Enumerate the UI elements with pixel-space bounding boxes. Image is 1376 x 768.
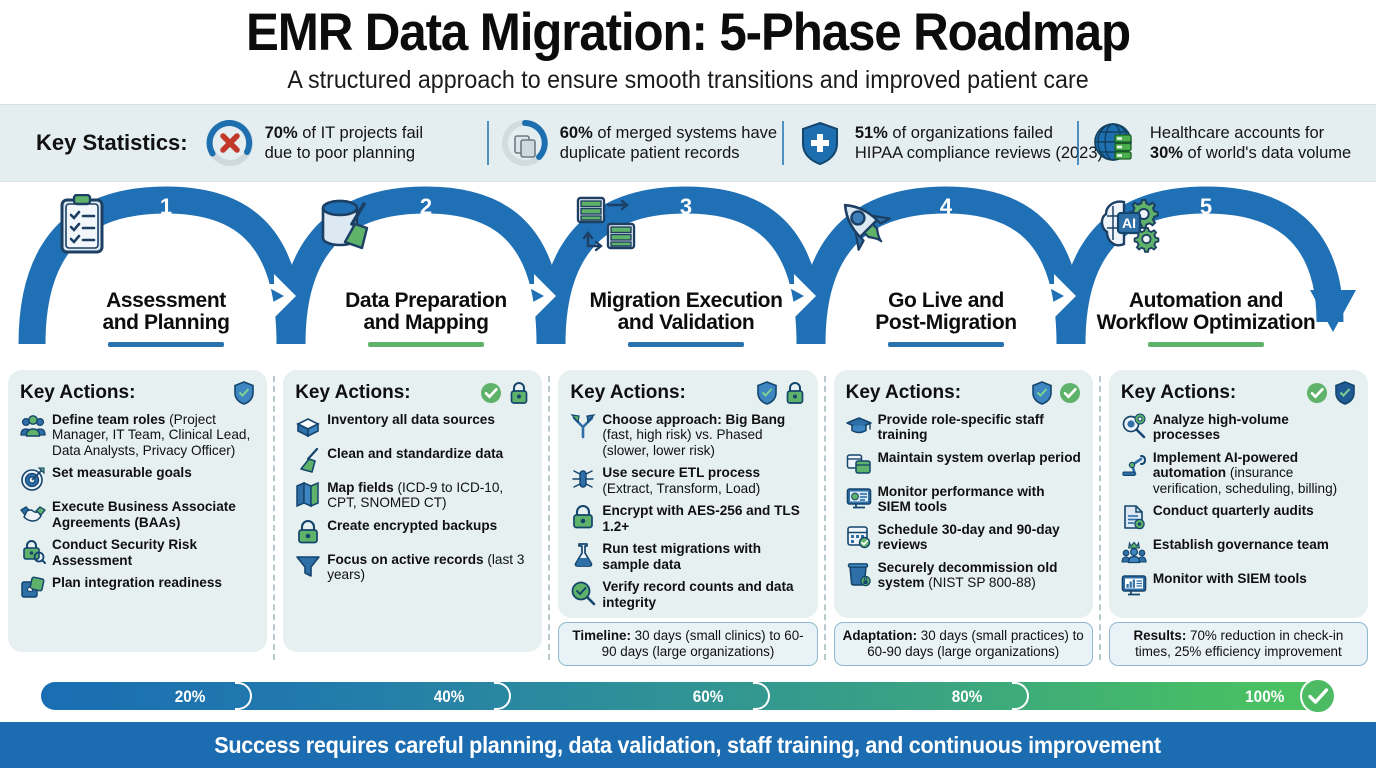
key-actions-label: Key Actions: <box>20 382 135 404</box>
action-bold: Monitor performance with SIEM tools <box>878 484 1045 514</box>
action-item: Conduct quarterly audits <box>1121 503 1356 530</box>
stat-text: 60% of merged systems have duplicate pat… <box>560 123 777 163</box>
phase-2: 2 Data Preparation and Mapping <box>314 194 538 347</box>
action-text: Provide role-specific staff training <box>878 412 1081 443</box>
stat-text: Healthcare accounts for 30% of world's d… <box>1150 123 1351 163</box>
action-text: Schedule 30-day and 90-day reviews <box>878 522 1081 553</box>
ai-brain-gears-icon: AI <box>1094 222 1318 288</box>
key-actions-label: Key Actions: <box>846 382 961 404</box>
action-text: Set measurable goals <box>52 465 192 480</box>
action-rest: (fast, high risk) vs. Phased (slower, lo… <box>602 427 762 457</box>
action-item: Verify record counts and data integrity <box>570 579 805 610</box>
action-bold: Map fields <box>327 480 393 495</box>
stat-line2: duplicate patient records <box>560 144 740 162</box>
green-check-icon <box>480 381 502 405</box>
action-bold: Use secure ETL process <box>602 465 760 480</box>
stat-item-it-projects-fail: 70% of IT projects fail due to poor plan… <box>204 117 477 169</box>
stat-line2: of world's data volume <box>1183 144 1351 162</box>
monitor-chart-icon <box>846 485 872 511</box>
stat-text: 51% of organizations failed HIPAA compli… <box>855 123 1103 163</box>
action-item: Focus on active records (last 3 years) <box>295 552 530 583</box>
action-item: Use secure ETL process (Extract, Transfo… <box>570 465 805 496</box>
action-text: Focus on active records (last 3 years) <box>327 552 530 583</box>
phase-cards: Key Actions: Define team roles (Project … <box>0 370 1376 666</box>
page-title: EMR Data Migration: 5-Phase Roadmap <box>48 6 1328 59</box>
card-wrap-2: Key Actions: Inventory all data sources <box>275 370 550 666</box>
monitor-bars-icon <box>1121 572 1147 598</box>
action-rest: (Extract, Transform, Load) <box>602 481 760 496</box>
page-subtitle: A structured approach to ensure smooth t… <box>48 66 1328 95</box>
progress-label-80: 80% <box>952 687 983 707</box>
action-item: Securely decommission old system (NIST S… <box>846 560 1081 591</box>
action-item: Run test migrations with sample data <box>570 541 805 572</box>
card-wrap-3: Key Actions: Choose approach: Big Bang (… <box>550 370 825 666</box>
action-text: Define team roles (Project Manager, IT T… <box>52 412 255 458</box>
calendar-overlap-icon <box>846 451 872 477</box>
audit-document-icon <box>1121 504 1147 530</box>
green-check-circle-icon <box>1300 678 1336 714</box>
action-text: Conduct Security Risk Assessment <box>52 537 255 568</box>
phase-3: 3 Migration Execution and Validation <box>574 194 798 347</box>
action-bold: Run test migrations with sample data <box>602 541 761 571</box>
roadmap-arcs: 1 Assessment and Planning 2 Data Prepara… <box>0 182 1376 354</box>
action-bold: Encrypt with AES-256 and TLS 1.2+ <box>602 503 799 533</box>
adaptation-callout: Adaptation: 30 days (small practices) to… <box>834 622 1093 666</box>
action-bold: Verify record counts and data integrity <box>602 579 793 609</box>
footer-text: Success requires careful planning, data … <box>215 732 1162 759</box>
action-text: Encrypt with AES-256 and TLS 1.2+ <box>602 503 805 534</box>
phase-card-5: Key Actions: Analyze high-volume process… <box>1109 370 1368 618</box>
action-item: Clean and standardize data <box>295 446 530 473</box>
stat-value: 30% <box>1150 144 1183 162</box>
action-bold: Focus on active records <box>327 552 483 567</box>
callout-label: Timeline: <box>572 628 631 643</box>
clipboard-check-icon <box>54 222 278 288</box>
action-bold: Set measurable goals <box>52 465 192 480</box>
governance-team-icon <box>1121 538 1147 564</box>
action-text: Implement AI-powered automation (insuran… <box>1153 450 1356 496</box>
action-item: Schedule 30-day and 90-day reviews <box>846 522 1081 553</box>
badge-group <box>756 381 806 405</box>
target-icon <box>20 466 46 492</box>
fork-arrows-icon <box>570 413 596 439</box>
map-icon <box>295 481 321 507</box>
action-text: Clean and standardize data <box>327 446 503 461</box>
phase-rule <box>368 342 484 347</box>
phase-1: 1 Assessment and Planning <box>54 194 278 347</box>
phase-title: Data Preparation and Mapping <box>314 290 538 334</box>
action-bold: Conduct quarterly audits <box>1153 503 1314 518</box>
phase-title: Automation and Workflow Optimization <box>1094 290 1318 334</box>
calendar-check-icon <box>846 523 872 549</box>
key-actions-label: Key Actions: <box>295 382 410 404</box>
phase-title-line2: and Planning <box>102 311 229 334</box>
action-item: Implement AI-powered automation (insuran… <box>1121 450 1356 496</box>
action-bold: Choose approach: Big Bang <box>602 412 785 427</box>
key-actions-label: Key Actions: <box>570 382 685 404</box>
rocket-icon <box>834 222 1058 288</box>
action-bold: Plan integration readiness <box>52 575 222 590</box>
action-text: Create encrypted backups <box>327 518 497 533</box>
action-text: Verify record counts and data integrity <box>602 579 805 610</box>
phase-title-line2: Post-Migration <box>875 311 1016 334</box>
action-text: Maintain system overlap period <box>878 450 1081 465</box>
action-text: Inventory all data sources <box>327 412 495 427</box>
results-callout: Results: 70% reduction in check-in times… <box>1109 622 1368 666</box>
action-item: Provide role-specific staff training <box>846 412 1081 443</box>
card-header: Key Actions: <box>570 381 805 405</box>
broom-icon <box>295 447 321 473</box>
phase-rule <box>1148 342 1264 347</box>
lock-icon <box>295 519 321 545</box>
phase-card-2: Key Actions: Inventory all data sources <box>283 370 542 652</box>
action-text: Monitor performance with SIEM tools <box>878 484 1081 515</box>
card-header: Key Actions: <box>295 381 530 405</box>
stat-text: 70% of IT projects fail due to poor plan… <box>265 123 423 163</box>
svg-text:AI: AI <box>1122 215 1136 231</box>
phase-5: 5 AI Automation and Workflow Optimizatio… <box>1094 194 1318 347</box>
lock-icon <box>784 381 806 405</box>
action-item: Set measurable goals <box>20 465 255 492</box>
action-rest: (NIST SP 800-88) <box>924 575 1035 590</box>
key-statistics-label: Key Statistics: <box>36 130 188 156</box>
robot-arm-icon <box>1121 451 1147 477</box>
action-text: Run test migrations with sample data <box>602 541 805 572</box>
shield-check-icon <box>1031 381 1053 405</box>
action-item: Plan integration readiness <box>20 575 255 602</box>
action-text: Use secure ETL process (Extract, Transfo… <box>602 465 805 496</box>
action-bold: Monitor with SIEM tools <box>1153 571 1307 586</box>
stat-line1: of merged systems have <box>593 124 777 142</box>
action-item: Execute Business Associate Agreements (B… <box>20 499 255 530</box>
action-bold: Maintain system overlap period <box>878 450 1081 465</box>
handshake-icon <box>20 500 46 526</box>
red-x-circle-icon <box>204 117 256 169</box>
page-header: EMR Data Migration: 5-Phase Roadmap A st… <box>0 0 1376 104</box>
phase-rule <box>628 342 744 347</box>
badge-group <box>1306 381 1356 405</box>
stat-value: 60% <box>560 124 593 142</box>
green-check-icon <box>1059 381 1081 405</box>
stat-value: 51% <box>855 124 888 142</box>
callout-label: Results: <box>1133 628 1186 643</box>
stat-line2: HIPAA compliance reviews (2023) <box>855 144 1103 162</box>
green-check-icon <box>1306 381 1328 405</box>
phase-title: Assessment and Planning <box>54 290 278 334</box>
phase-title-line1: Go Live and <box>888 289 1004 312</box>
progress-label-40: 40% <box>434 687 465 707</box>
action-text: Map fields (ICD-9 to ICD-10, CPT, SNOMED… <box>327 480 530 511</box>
card-wrap-4: Key Actions: Provide role-specific staff… <box>826 370 1101 666</box>
action-item: Monitor performance with SIEM tools <box>846 484 1081 515</box>
phase-title-line1: Data Preparation <box>345 289 507 312</box>
globe-server-icon <box>1089 117 1141 169</box>
action-item: Create encrypted backups <box>295 518 530 545</box>
team-people-icon <box>20 413 46 439</box>
action-item: Establish governance team <box>1121 537 1356 564</box>
phase-rule <box>108 342 224 347</box>
magnifier-check-icon <box>570 580 596 606</box>
shield-check-icon <box>233 381 255 405</box>
shield-check-icon <box>756 381 778 405</box>
stat-item-healthcare-data-volume: Healthcare accounts for 30% of world's d… <box>1089 117 1362 169</box>
action-bold: Inventory all data sources <box>327 412 495 427</box>
card-header: Key Actions: <box>1121 381 1356 405</box>
stat-item-hipaa-compliance: 51% of organizations failed HIPAA compli… <box>794 117 1067 169</box>
badge-group <box>1031 381 1081 405</box>
action-item: Conduct Security Risk Assessment <box>20 537 255 568</box>
stat-line1: of organizations failed <box>888 124 1053 142</box>
action-item: Encrypt with AES-256 and TLS 1.2+ <box>570 503 805 534</box>
action-text: Execute Business Associate Agreements (B… <box>52 499 255 530</box>
phase-card-3: Key Actions: Choose approach: Big Bang (… <box>558 370 817 618</box>
card-wrap-5: Key Actions: Analyze high-volume process… <box>1101 370 1376 666</box>
stat-line1: of IT projects fail <box>298 124 423 142</box>
divider <box>1077 121 1079 165</box>
lock-magnifier-icon <box>20 538 46 564</box>
etl-process-icon <box>570 466 596 492</box>
duplicate-records-icon <box>499 117 551 169</box>
graduation-cap-icon <box>846 413 872 439</box>
divider <box>782 121 784 165</box>
phase-title-line2: and Validation <box>618 311 755 334</box>
phase-title-line2: and Mapping <box>363 311 488 334</box>
stat-line1: Healthcare accounts for <box>1150 124 1324 142</box>
action-item: Maintain system overlap period <box>846 450 1081 477</box>
action-item: Map fields (ICD-9 to ICD-10, CPT, SNOMED… <box>295 480 530 511</box>
action-bold: Create encrypted backups <box>327 518 497 533</box>
divider <box>487 121 489 165</box>
badge-group <box>480 381 530 405</box>
action-bold: Execute Business Associate Agreements (B… <box>52 499 236 529</box>
trash-lock-icon <box>846 561 872 587</box>
timeline-callout: Timeline: 30 days (small clinics) to 60-… <box>558 622 817 666</box>
callout-label: Adaptation: <box>843 628 917 643</box>
stat-value: 70% <box>265 124 298 142</box>
progress-bar-area: 20% 40% 60% 80% 100% <box>0 678 1376 720</box>
shield-check-icon <box>1334 381 1356 405</box>
action-item: Choose approach: Big Bang (fast, high ri… <box>570 412 805 458</box>
action-bold: Conduct Security Risk Assessment <box>52 537 197 567</box>
action-bold: Define team roles <box>52 412 165 427</box>
action-text: Monitor with SIEM tools <box>1153 571 1307 586</box>
action-text: Analyze high-volume processes <box>1153 412 1356 443</box>
action-text: Securely decommission old system (NIST S… <box>878 560 1081 591</box>
server-transfer-icon <box>574 222 798 288</box>
phase-title: Migration Execution and Validation <box>574 290 798 334</box>
action-bold: Provide role-specific staff training <box>878 412 1044 442</box>
stat-item-duplicate-records: 60% of merged systems have duplicate pat… <box>499 117 772 169</box>
phase-card-1: Key Actions: Define team roles (Project … <box>8 370 267 652</box>
flask-icon <box>570 542 596 568</box>
action-text: Establish governance team <box>1153 537 1329 552</box>
action-text: Plan integration readiness <box>52 575 222 590</box>
card-header: Key Actions: <box>20 381 255 405</box>
shield-plus-icon <box>794 117 846 169</box>
action-item: Monitor with SIEM tools <box>1121 571 1356 598</box>
action-bold: Clean and standardize data <box>327 446 503 461</box>
card-header: Key Actions: <box>846 381 1081 405</box>
phase-title-line1: Assessment <box>106 289 226 312</box>
progress-label-20: 20% <box>175 687 206 707</box>
key-statistics-bar: Key Statistics: 70% of IT projects fail … <box>0 104 1376 182</box>
progress-label-60: 60% <box>693 687 724 707</box>
funnel-icon <box>295 553 321 579</box>
action-item: Inventory all data sources <box>295 412 530 439</box>
action-bold: Establish governance team <box>1153 537 1329 552</box>
open-box-icon <box>295 413 321 439</box>
phase-4: 4 Go Live and Post-Migration <box>834 194 1058 347</box>
action-item: Define team roles (Project Manager, IT T… <box>20 412 255 458</box>
magnifier-gear-icon <box>1121 413 1147 439</box>
badge-group <box>233 381 255 405</box>
action-text: Choose approach: Big Bang (fast, high ri… <box>602 412 805 458</box>
key-actions-label: Key Actions: <box>1121 382 1236 404</box>
action-bold: Schedule 30-day and 90-day reviews <box>878 522 1060 552</box>
action-item: Analyze high-volume processes <box>1121 412 1356 443</box>
phase-card-4: Key Actions: Provide role-specific staff… <box>834 370 1093 618</box>
database-broom-icon <box>314 222 538 288</box>
card-wrap-1: Key Actions: Define team roles (Project … <box>0 370 275 666</box>
action-bold: Analyze high-volume processes <box>1153 412 1289 442</box>
phase-title-line1: Migration Execution <box>589 289 782 312</box>
lock-icon <box>570 504 596 530</box>
phase-title-line1: Automation and <box>1129 289 1283 312</box>
puzzle-icon <box>20 576 46 602</box>
phase-title: Go Live and Post-Migration <box>834 290 1058 334</box>
lock-icon <box>508 381 530 405</box>
action-text: Conduct quarterly audits <box>1153 503 1314 518</box>
stat-line2: due to poor planning <box>265 144 415 162</box>
phase-title-line2: Workflow Optimization <box>1097 311 1316 334</box>
footer-banner: Success requires careful planning, data … <box>0 722 1376 768</box>
progress-label-100: 100% <box>1245 687 1284 707</box>
callout-text: 30 days (small clinics) to 60-90 days (l… <box>602 628 804 659</box>
phase-rule <box>888 342 1004 347</box>
